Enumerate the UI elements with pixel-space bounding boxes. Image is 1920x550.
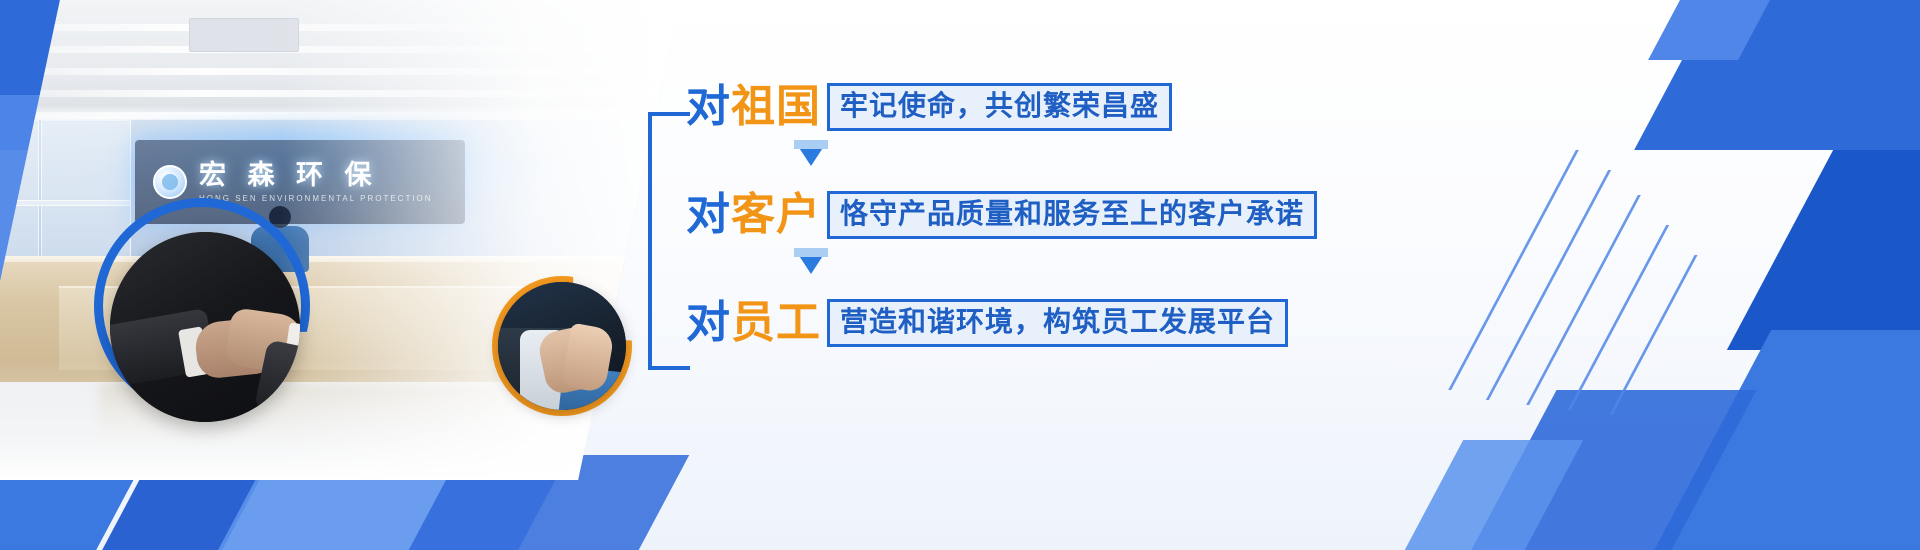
slogan-lead-prefix: 对 xyxy=(686,297,731,348)
slogan-lead-prefix: 对 xyxy=(686,81,731,132)
decor-hairline-4 xyxy=(1568,225,1669,410)
slogan-lead-highlight: 员工 xyxy=(731,297,821,348)
promo-banner: 宏 森 环 保 HONG SEN ENVIRONMENTAL PROTECTIO… xyxy=(0,0,1920,550)
decor-shape-right-6 xyxy=(1397,440,1583,550)
slogan-row-employee: 对员工 营造和谐环境，构筑员工发展平台 xyxy=(686,294,1317,352)
down-arrow-icon xyxy=(794,140,828,166)
left-bracket-icon xyxy=(648,112,690,370)
decor-shape-right-4 xyxy=(1649,330,1920,550)
slogan-tag-text: 恪守产品质量和服务至上的客户承诺 xyxy=(840,199,1304,230)
decor-hairline-3 xyxy=(1526,195,1641,405)
slogan-row-customer: 对客户 恪守产品质量和服务至上的客户承诺 xyxy=(686,186,1317,244)
slogan-tag-text: 牢记使命，共创繁荣昌盛 xyxy=(840,91,1159,122)
handshake-photo xyxy=(110,232,300,422)
decor-shape-right-2 xyxy=(1648,0,1802,60)
applause-photo xyxy=(498,282,626,410)
slogan-connector-2 xyxy=(686,244,1317,294)
slogan-lead-prefix: 对 xyxy=(686,189,731,240)
decor-hairline-5 xyxy=(1609,255,1697,415)
slogan-lead-country: 对祖国 xyxy=(686,85,821,129)
slogan-lead-employee: 对员工 xyxy=(686,301,821,345)
decor-shape-right-1 xyxy=(1634,0,1920,150)
slogan-rows: 对祖国 牢记使命，共创繁荣昌盛 对客户 恪守产品质量和服务至上的客户承诺 xyxy=(686,78,1317,352)
decor-shape-right-3 xyxy=(1727,150,1920,350)
down-arrow-icon xyxy=(794,248,828,274)
slogan-tag-text: 营造和谐环境，构筑员工发展平台 xyxy=(840,307,1275,338)
slogan-lead-customer: 对客户 xyxy=(686,193,821,237)
slogan-connector-1 xyxy=(686,136,1317,186)
slogan-lead-highlight: 祖国 xyxy=(731,81,821,132)
slogan-row-country: 对祖国 牢记使命，共创繁荣昌盛 xyxy=(686,78,1317,136)
slogan-tag-customer: 恪守产品质量和服务至上的客户承诺 xyxy=(827,191,1317,239)
slogan-tag-employee: 营造和谐环境，构筑员工发展平台 xyxy=(827,299,1288,347)
slogan-lead-highlight: 客户 xyxy=(731,189,821,240)
slogan-block: 对祖国 牢记使命，共创繁荣昌盛 对客户 恪守产品质量和服务至上的客户承诺 xyxy=(648,78,1408,408)
slogan-tag-country: 牢记使命，共创繁荣昌盛 xyxy=(827,83,1172,131)
decor-hairline-1 xyxy=(1448,150,1579,390)
